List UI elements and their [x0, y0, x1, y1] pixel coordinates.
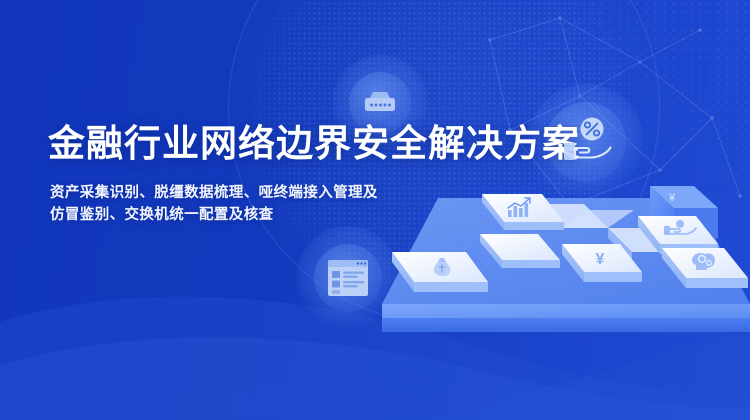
yen-icon: ¥ — [596, 251, 605, 268]
finance-security-banner: ¥ — [0, 0, 750, 420]
subtitle-line-1: 资产采集识别、脱缰数据梳理、哑终端接入管理及 — [50, 182, 518, 204]
subtitle: 资产采集识别、脱缰数据梳理、哑终端接入管理及 仿冒鉴别、交换机统一配置及核查 — [50, 182, 518, 226]
router-icon — [357, 80, 403, 126]
svg-text:¥: ¥ — [668, 192, 676, 204]
hand-percent-icon — [556, 113, 616, 171]
headline-block: 金融行业网络边界安全解决方案 资产采集识别、脱缰数据梳理、哑终端接入管理及 仿冒… — [48, 118, 518, 226]
checklist-icon — [324, 256, 372, 300]
page-title: 金融行业网络边界安全解决方案 — [48, 118, 518, 170]
subtitle-line-2: 仿冒鉴别、交换机统一配置及核查 — [50, 204, 518, 226]
